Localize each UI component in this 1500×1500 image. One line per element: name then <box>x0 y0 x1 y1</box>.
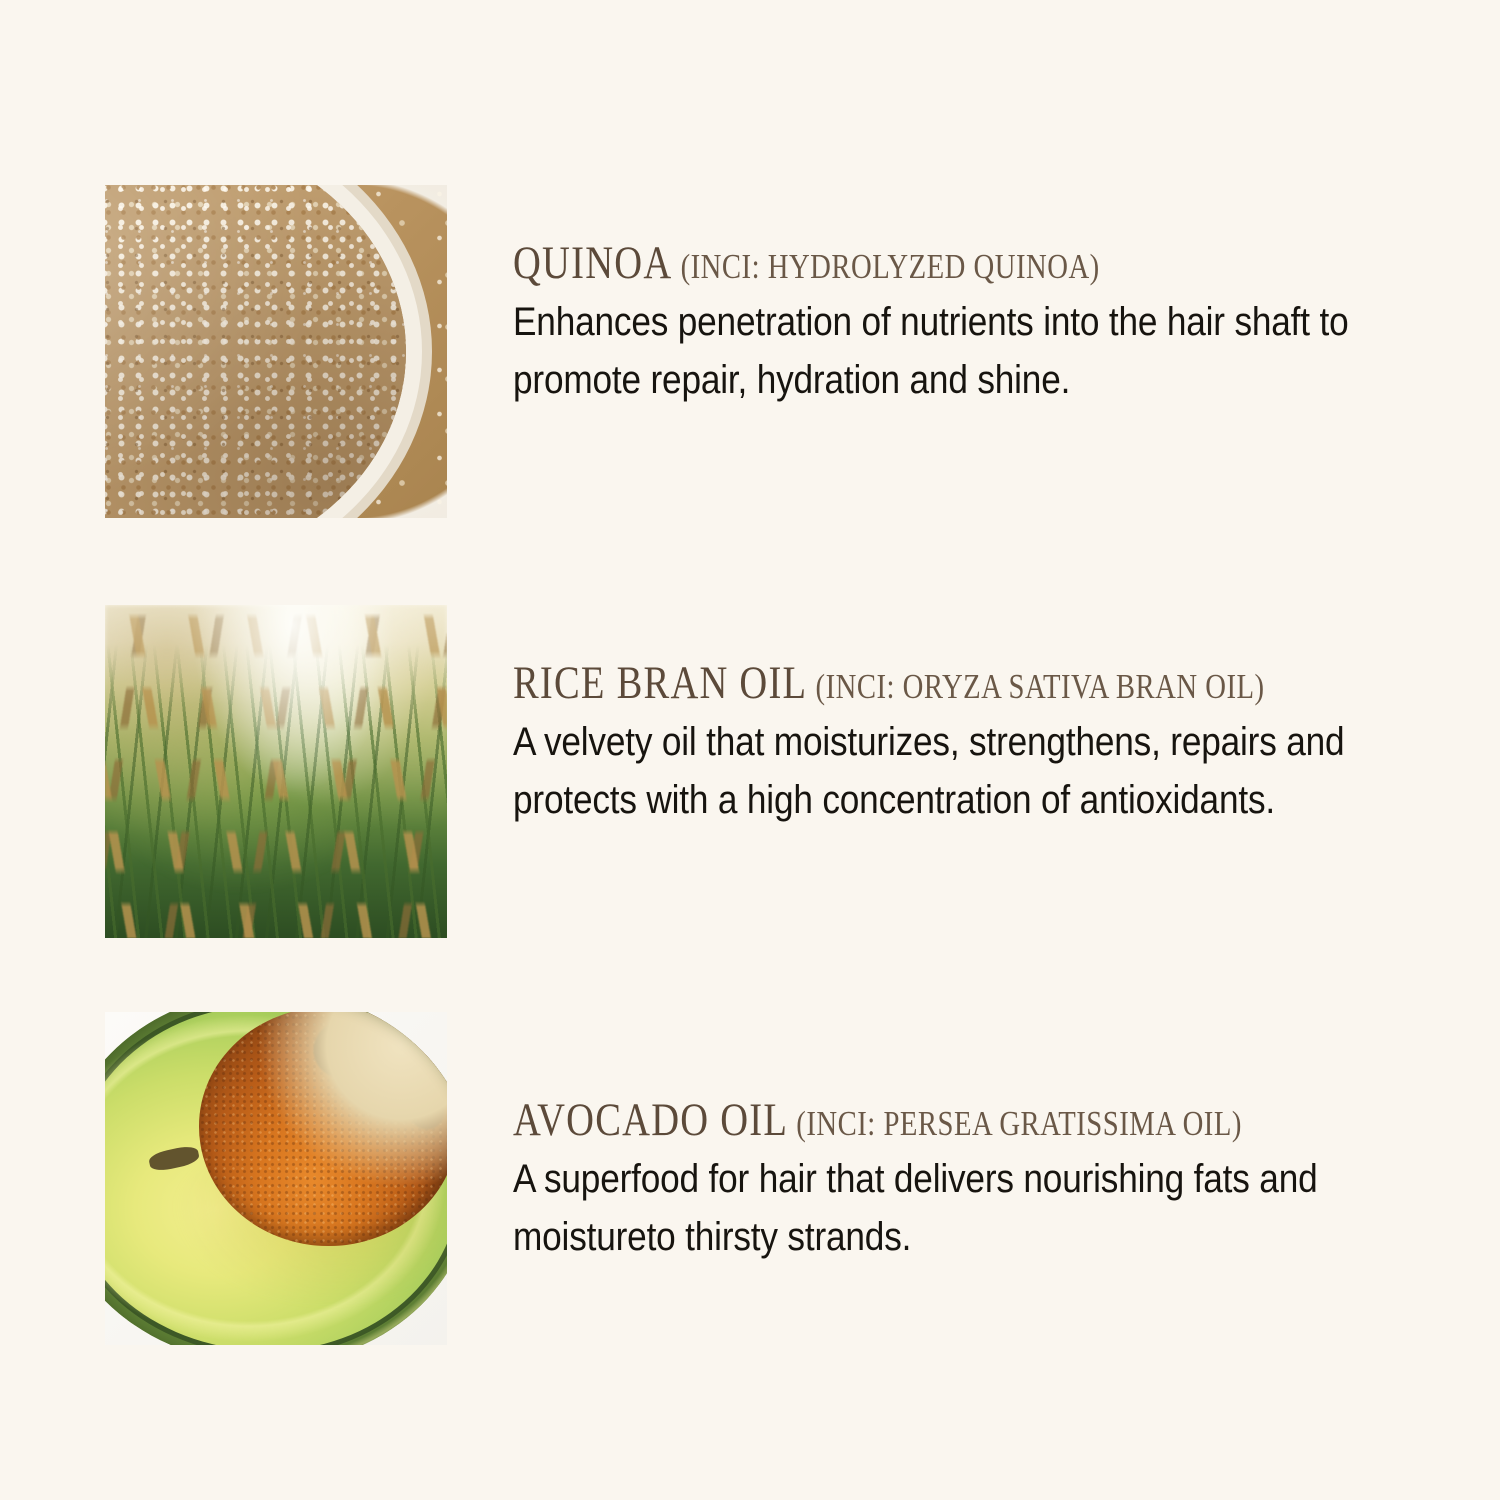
avocado-description: A superfood for hair that delivers nouri… <box>513 1150 1382 1266</box>
quinoa-description: Enhances penetration of nutrients into t… <box>513 293 1382 409</box>
avocado-pit <box>199 1012 447 1246</box>
field-sunlight-layer <box>105 605 447 938</box>
avocado-heading: AVOCADO OIL(INCI: PERSEA GRATISSIMA OIL) <box>513 1097 1322 1144</box>
avocado-name: AVOCADO OIL <box>513 1094 788 1146</box>
avocado-inci: (INCI: PERSEA GRATISSIMA OIL) <box>796 1104 1242 1143</box>
ingredient-row-rice-bran-oil: RICE BRAN OIL(INCI: ORYZA SATIVA BRAN OI… <box>0 605 1500 938</box>
quinoa-name: QUINOA <box>513 237 672 289</box>
quinoa-image <box>105 185 447 518</box>
ingredient-row-avocado-oil: AVOCADO OIL(INCI: PERSEA GRATISSIMA OIL)… <box>0 1012 1500 1345</box>
ingredient-infographic: QUINOA(INCI: HYDROLYZED QUINOA) Enhances… <box>0 0 1500 1500</box>
avocado-half <box>105 1012 447 1345</box>
quinoa-text-block: QUINOA(INCI: HYDROLYZED QUINOA) Enhances… <box>513 185 1500 409</box>
ingredient-row-quinoa: QUINOA(INCI: HYDROLYZED QUINOA) Enhances… <box>0 185 1500 518</box>
rice-bran-name: RICE BRAN OIL <box>513 657 807 709</box>
rice-bran-image <box>105 605 447 938</box>
quinoa-heading: QUINOA(INCI: HYDROLYZED QUINOA) <box>513 240 1322 287</box>
avocado-image <box>105 1012 447 1345</box>
quinoa-inci: (INCI: HYDROLYZED QUINOA) <box>681 247 1100 286</box>
rice-bran-description: A velvety oil that moisturizes, strength… <box>513 713 1382 829</box>
rice-bran-text-block: RICE BRAN OIL(INCI: ORYZA SATIVA BRAN OI… <box>513 605 1500 829</box>
avocado-pit-skin-patches <box>199 1012 447 1246</box>
quinoa-seed-shading <box>105 185 406 518</box>
quinoa-seed-mass <box>105 185 406 518</box>
rice-bran-inci: (INCI: ORYZA SATIVA BRAN OIL) <box>816 667 1265 706</box>
avocado-text-block: AVOCADO OIL(INCI: PERSEA GRATISSIMA OIL)… <box>513 1012 1500 1266</box>
rice-bran-heading: RICE BRAN OIL(INCI: ORYZA SATIVA BRAN OI… <box>513 660 1322 707</box>
